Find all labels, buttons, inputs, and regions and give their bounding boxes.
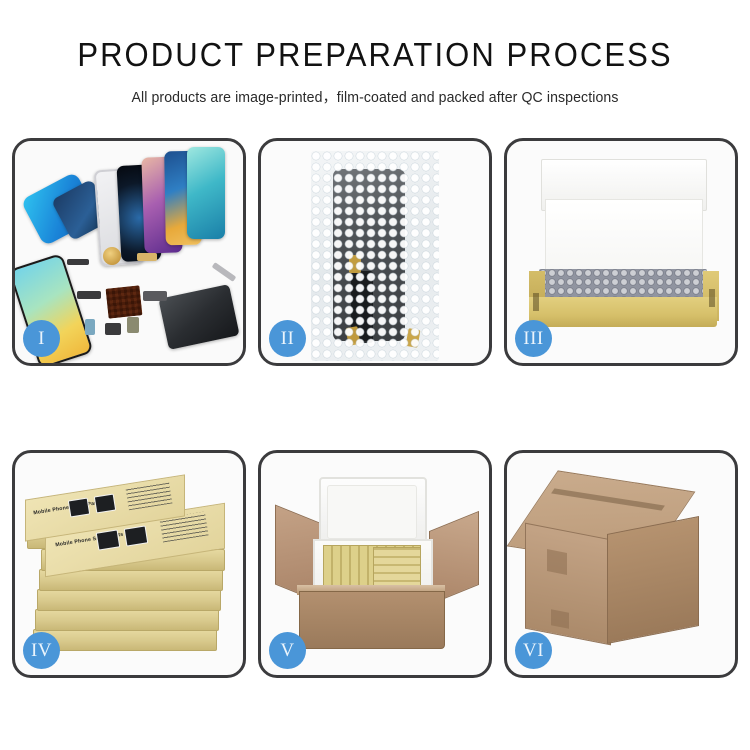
box-notch: [533, 293, 539, 311]
step-badge-1: I: [23, 320, 60, 357]
step-panel-4: Mobile Phone Spare Parts Mobile Phone Sp…: [12, 450, 246, 678]
step-panel-6: VI: [504, 450, 738, 678]
carton-tape: [551, 609, 569, 628]
step-badge-2: II: [269, 320, 306, 357]
box-notch: [709, 289, 715, 307]
part-battery-icon: [85, 319, 95, 335]
bubble-wrap-bag-icon: [311, 151, 439, 361]
part-flex-cable-icon: [137, 253, 157, 261]
box-thumbnail: [94, 494, 116, 514]
part-antenna-icon: [77, 291, 101, 299]
stacked-box: [35, 609, 219, 631]
part-speaker-icon: [103, 247, 121, 265]
step-panel-1: I: [12, 138, 246, 366]
step-badge-4: IV: [23, 632, 60, 669]
page-title: PRODUCT PREPARATION PROCESS: [23, 36, 728, 74]
process-steps-grid: I II: [12, 138, 738, 678]
carton-tape: [547, 549, 567, 575]
box-thumbnail: [68, 498, 90, 518]
box-thumbnail: [124, 525, 149, 546]
step-badge-5: V: [269, 632, 306, 669]
part-module-icon: [127, 317, 139, 333]
screw-tray-icon: [106, 285, 143, 318]
kraft-box-front: [529, 297, 717, 327]
stacked-box: [37, 589, 221, 611]
step-badge-6: VI: [515, 632, 552, 669]
step-panel-3: III: [504, 138, 738, 366]
stacked-box: [33, 629, 217, 651]
page-subtitle: All products are image-printed，film-coat…: [8, 86, 743, 107]
bubble-texture: [311, 151, 439, 361]
step-panel-5: V: [258, 450, 492, 678]
part-ribbon-icon: [143, 291, 167, 301]
product-preparation-infographic: PRODUCT PREPARATION PROCESS All products…: [0, 0, 750, 750]
step-panel-2: II: [258, 138, 492, 366]
phone-display-teal-icon: [187, 147, 225, 239]
carton-front: [299, 591, 445, 649]
box-thumbnail: [96, 529, 121, 550]
styrofoam-lid-inner: [327, 485, 417, 539]
foam-sheet-icon: [545, 199, 703, 277]
packed-boxes-icon: [373, 547, 421, 589]
carton-right-face: [607, 516, 699, 644]
part-camera-icon: [105, 323, 121, 335]
header: PRODUCT PREPARATION PROCESS All products…: [0, 0, 750, 107]
step-badge-3: III: [515, 320, 552, 357]
part-connector-icon: [67, 259, 89, 265]
